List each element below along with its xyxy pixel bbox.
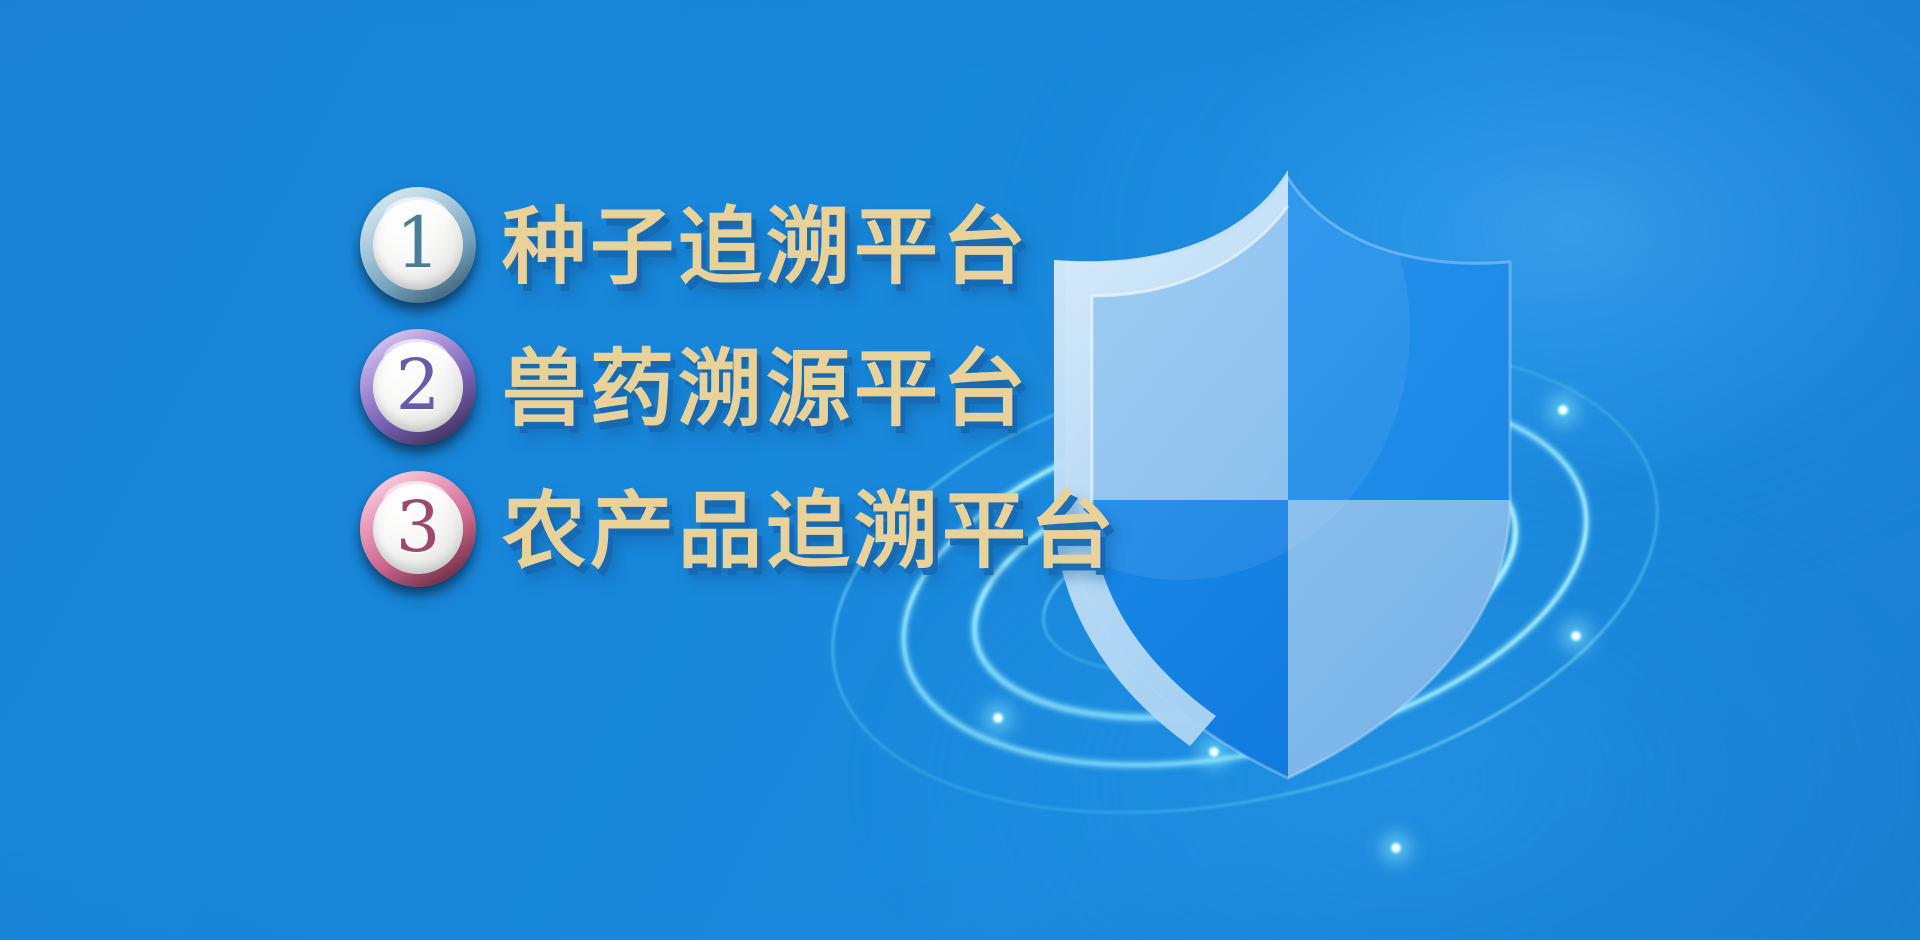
glow-dot xyxy=(1388,840,1404,856)
badge-number: 3 xyxy=(396,492,441,566)
number-badge-1[interactable]: 1 xyxy=(360,187,476,303)
banner-canvas: 1 种子追溯平台 2 兽药溯源平台 3 xyxy=(0,0,1920,940)
list-item[interactable]: 3 农产品追溯平台 xyxy=(356,460,1256,602)
badge-2-wrap: 2 xyxy=(356,327,480,451)
badge-number: 1 xyxy=(396,208,441,282)
badge-number: 2 xyxy=(396,350,441,424)
list-item-label: 兽药溯源平台 xyxy=(502,347,1030,431)
glow-dot xyxy=(1568,628,1584,644)
list-item-label: 种子追溯平台 xyxy=(502,205,1030,289)
badge-1-wrap: 1 xyxy=(356,185,480,309)
number-badge-2[interactable]: 2 xyxy=(360,329,476,445)
number-badge-3[interactable]: 3 xyxy=(360,471,476,587)
glow-dot xyxy=(990,710,1006,726)
platform-list: 1 种子追溯平台 2 兽药溯源平台 3 xyxy=(356,176,1256,602)
list-item[interactable]: 2 兽药溯源平台 xyxy=(356,318,1256,460)
badge-3-wrap: 3 xyxy=(356,469,480,593)
list-item-label: 农产品追溯平台 xyxy=(502,489,1118,573)
list-item[interactable]: 1 种子追溯平台 xyxy=(356,176,1256,318)
